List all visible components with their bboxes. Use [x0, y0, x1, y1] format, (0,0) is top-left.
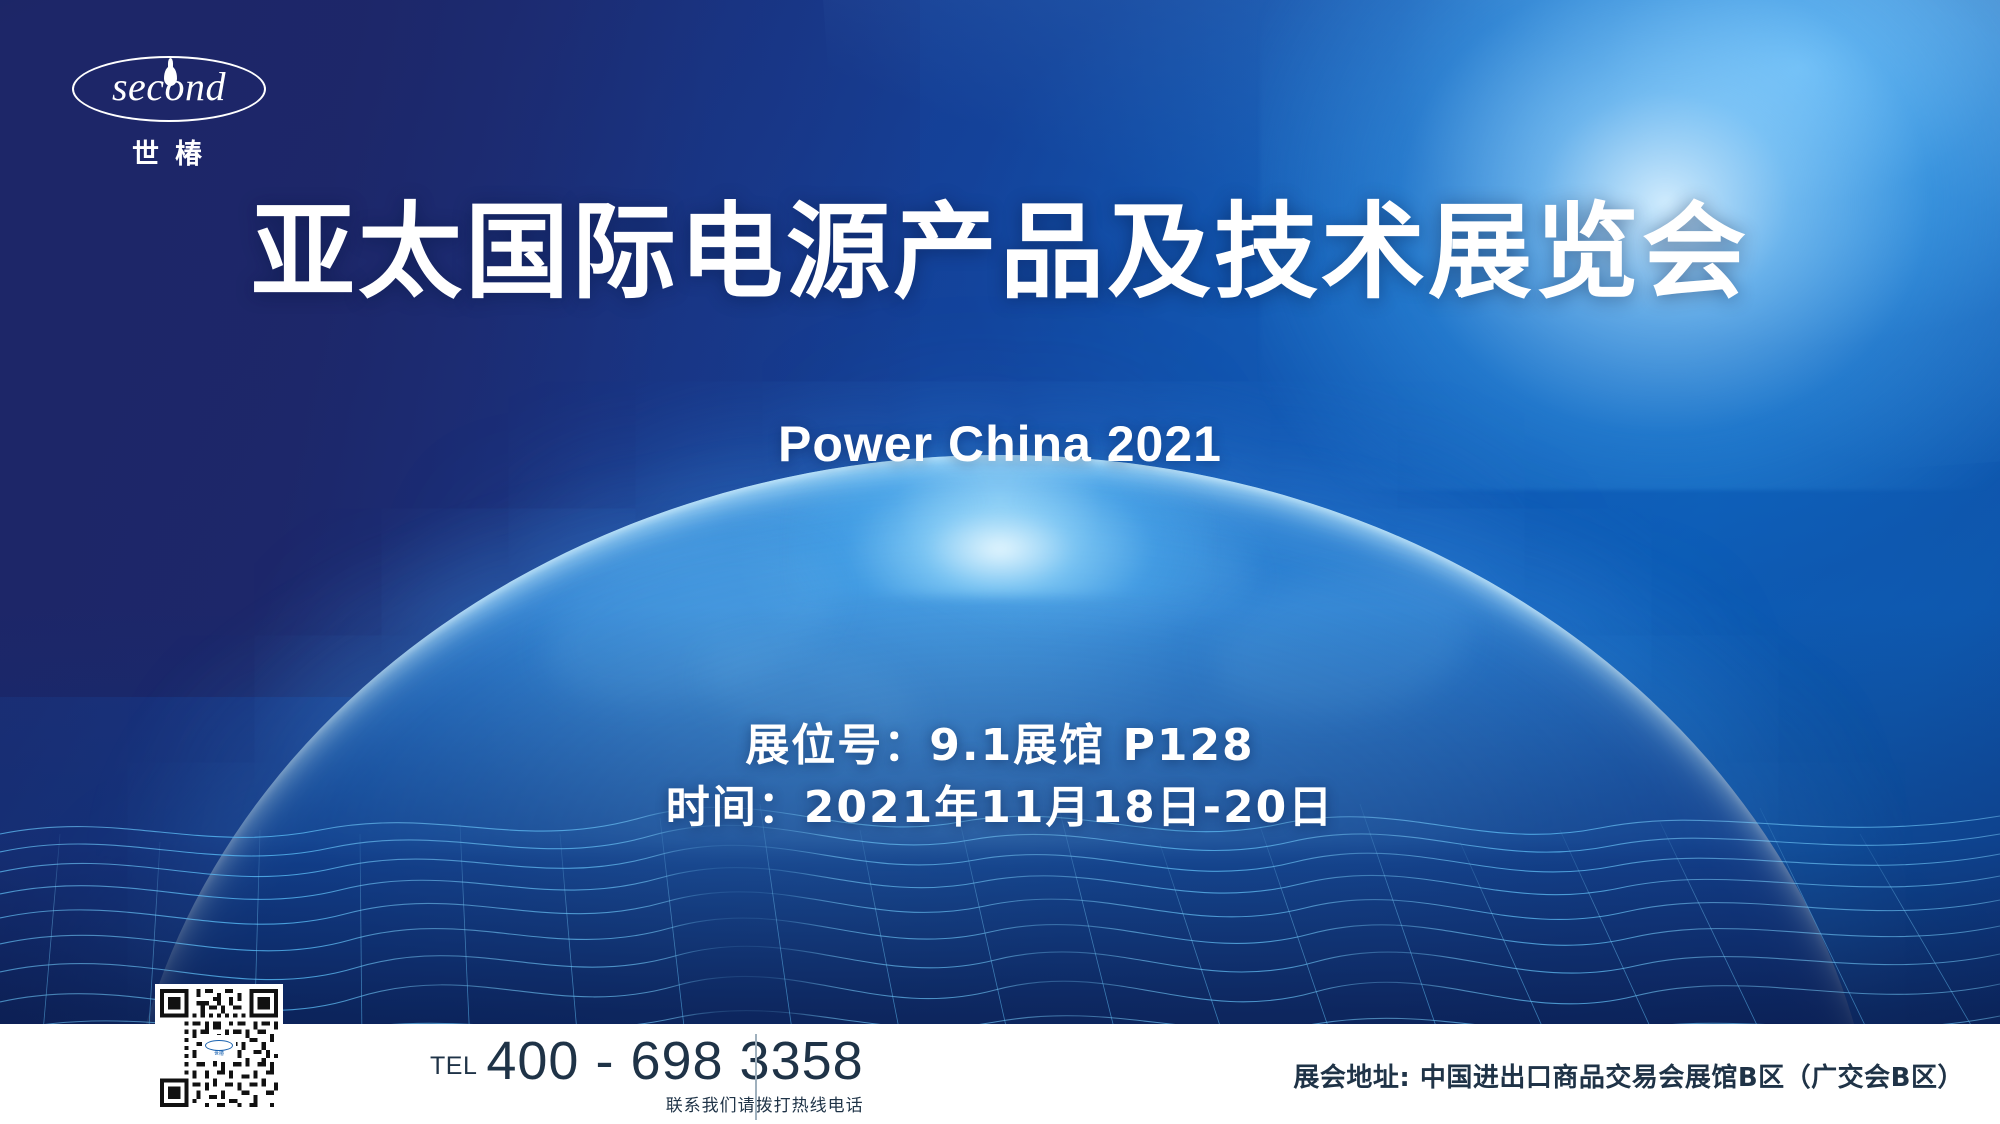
event-date-line: 时间：2021年11月18日-20日 [0, 777, 2000, 839]
page-title: 亚太国际电源产品及技术展览会 [0, 196, 2000, 308]
exhibition-address: 展会地址: 中国进出口商品交易会展馆B区（广交会B区） [1293, 1057, 1964, 1094]
footer-bar: 世椿 TEL 400 - 698 3358 联系我们请拨打热线电话 展会地址: … [0, 1024, 2000, 1124]
company-logo[interactable]: second 世椿 [72, 56, 262, 171]
qr-center-logo-icon: 世椿 [202, 1035, 236, 1061]
footer-divider [755, 1034, 757, 1120]
exhibition-banner: second 世椿 亚太国际电源产品及技术展览会 Power China 202… [0, 0, 2000, 1124]
logo-chinese-name: 世椿 [72, 132, 262, 171]
page-subtitle: Power China 2021 [0, 415, 2000, 473]
qr-badge-label: 世椿 [214, 1052, 224, 1057]
qr-badge-ellipse [205, 1040, 233, 1051]
tel-note: 联系我们请拨打热线电话 [430, 1091, 864, 1116]
qr-code[interactable]: 世椿 [155, 984, 283, 1112]
tel-number[interactable]: 400 - 698 3358 [486, 1034, 863, 1088]
event-info-block: 展位号：9.1展馆 P128 时间：2021年11月18日-20日 [0, 715, 2000, 840]
water-drop-icon [164, 66, 177, 86]
logo-ellipse-frame: second [72, 56, 266, 122]
telephone-row: TEL 400 - 698 3358 [430, 1034, 864, 1088]
booth-number-line: 展位号：9.1展馆 P128 [0, 715, 2000, 777]
tel-label: TEL [430, 1052, 486, 1088]
telephone-block: TEL 400 - 698 3358 联系我们请拨打热线电话 [430, 1034, 864, 1116]
